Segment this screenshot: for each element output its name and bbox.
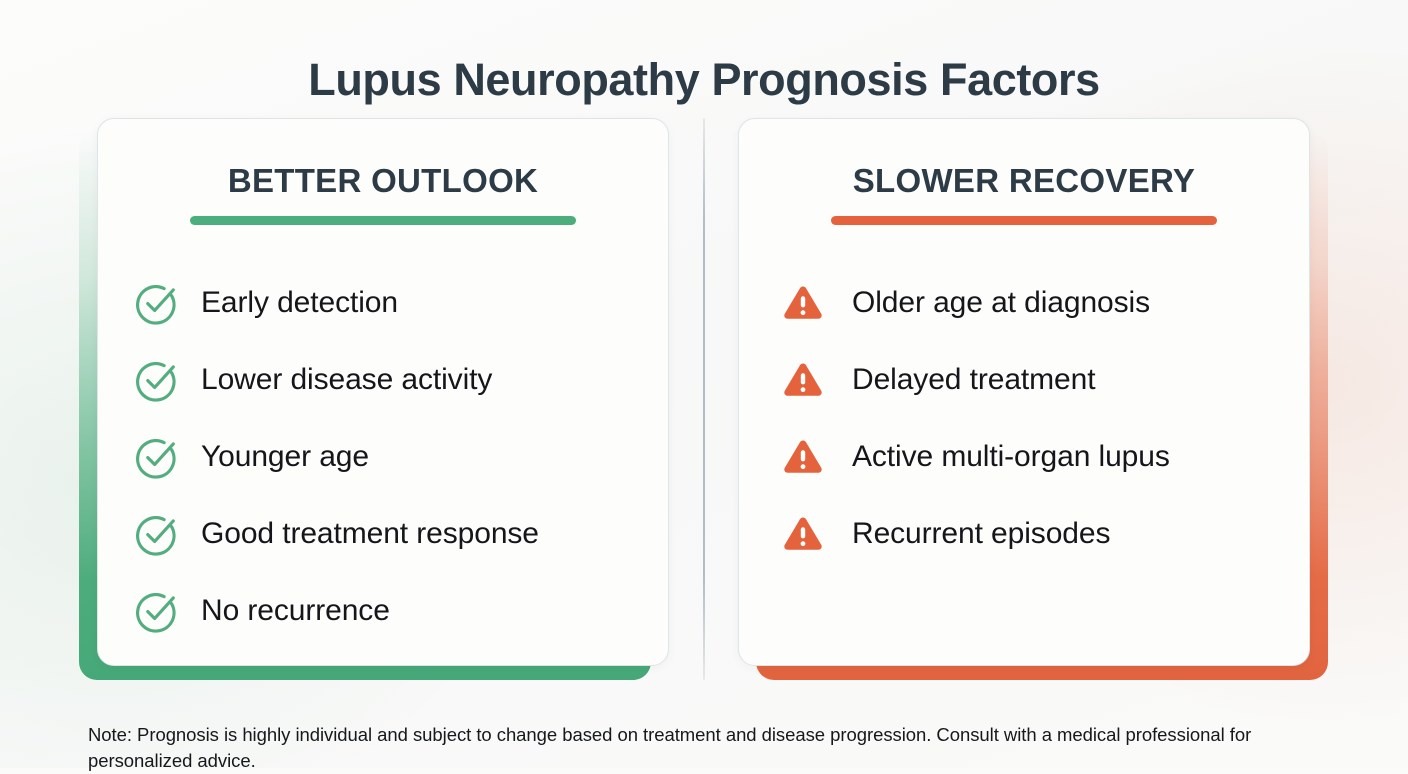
list-item: Active multi-organ lupus (780, 418, 1309, 495)
factor-list-slower-recovery: Older age at diagnosis Delayed treatment (739, 264, 1309, 572)
check-circle-icon (134, 588, 180, 634)
infographic-canvas: Lupus Neuropathy Prognosis Factors BETTE… (0, 0, 1408, 768)
list-item-label: Older age at diagnosis (852, 285, 1150, 321)
warning-triangle-icon (780, 357, 826, 403)
warning-triangle-icon (780, 511, 826, 557)
card-slower-recovery: SLOWER RECOVERY Older age at diagnosis (738, 118, 1310, 666)
list-item-label: Early detection (201, 285, 398, 321)
panel-heading-underline-left (190, 216, 576, 225)
check-circle-icon (134, 434, 180, 480)
check-circle-icon (134, 511, 180, 557)
list-item: Good treatment response (134, 495, 668, 572)
panel-better-outlook: BETTER OUTLOOK Early detection Lower di (97, 118, 669, 666)
list-item: Delayed treatment (780, 341, 1309, 418)
list-item-label: Younger age (201, 439, 369, 475)
warning-triangle-icon (780, 434, 826, 480)
check-circle-icon (134, 357, 180, 403)
list-item: Lower disease activity (134, 341, 668, 418)
factor-list-better-outlook: Early detection Lower disease activity Y… (98, 264, 668, 649)
list-item-label: Recurrent episodes (852, 516, 1110, 552)
check-circle-icon (134, 280, 180, 326)
card-better-outlook: BETTER OUTLOOK Early detection Lower di (97, 118, 669, 666)
list-item-label: Delayed treatment (852, 362, 1095, 398)
panel-slower-recovery: SLOWER RECOVERY Older age at diagnosis (738, 118, 1310, 666)
panel-divider (703, 118, 705, 680)
list-item: Recurrent episodes (780, 495, 1309, 572)
list-item: Older age at diagnosis (780, 264, 1309, 341)
panel-heading-slower-recovery: SLOWER RECOVERY (739, 119, 1309, 199)
panel-heading-underline-right (831, 216, 1217, 225)
list-item-label: No recurrence (201, 593, 390, 629)
list-item-label: Good treatment response (201, 516, 539, 552)
page-title: Lupus Neuropathy Prognosis Factors (0, 54, 1408, 106)
footer-disclaimer-note: Note: Prognosis is highly individual and… (88, 722, 1303, 774)
warning-triangle-icon (780, 280, 826, 326)
list-item: Younger age (134, 418, 668, 495)
list-item-label: Lower disease activity (201, 362, 492, 398)
list-item-label: Active multi-organ lupus (852, 439, 1170, 475)
list-item: No recurrence (134, 572, 668, 649)
panel-heading-better-outlook: BETTER OUTLOOK (98, 119, 668, 199)
list-item: Early detection (134, 264, 668, 341)
